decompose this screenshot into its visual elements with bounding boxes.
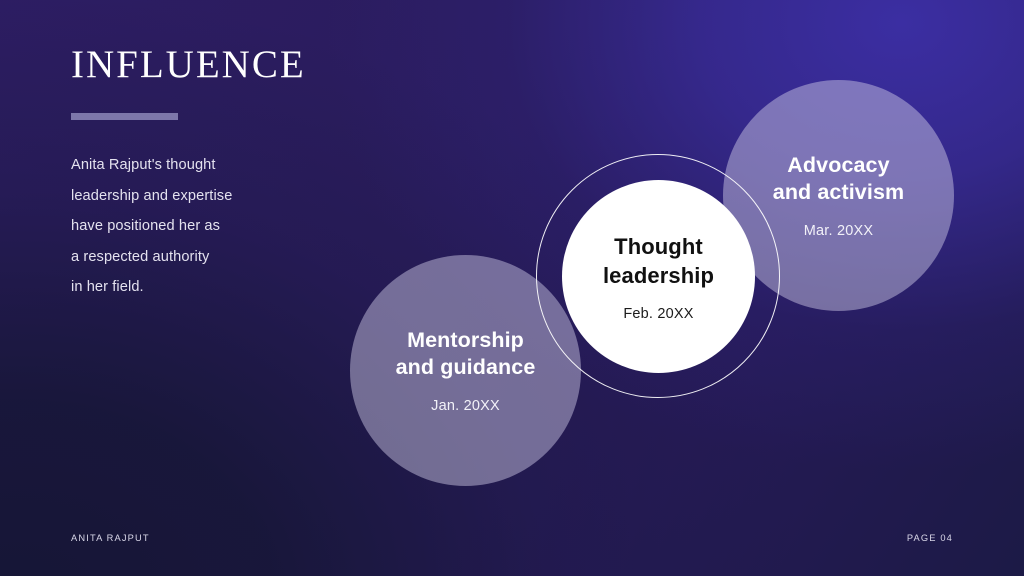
milestone-title: Mentorship and guidance [396, 327, 536, 381]
body-line: a respected authority [71, 242, 331, 273]
milestone-date: Jan. 20XX [431, 398, 500, 414]
slide-canvas: INFLUENCE Anita Rajput's thought leaders… [0, 0, 1024, 576]
milestone-title-line: and activism [773, 179, 904, 206]
milestone-title-line: leadership [603, 261, 714, 290]
body-line: have positioned her as [71, 211, 331, 242]
milestone-title-line: Advocacy [773, 152, 904, 179]
milestone-title: Advocacy and activism [773, 152, 904, 206]
title-accent-bar [71, 113, 178, 120]
left-text-column: INFLUENCE Anita Rajput's thought leaders… [71, 42, 331, 303]
body-line: leadership and expertise [71, 181, 331, 212]
milestone-title-line: and guidance [396, 354, 536, 381]
body-paragraph: Anita Rajput's thought leadership and ex… [71, 150, 331, 303]
body-line: Anita Rajput's thought [71, 150, 331, 181]
milestone-title: Thought leadership [603, 232, 714, 290]
footer-page-number: PAGE 04 [907, 533, 953, 543]
page-title: INFLUENCE [71, 42, 331, 88]
milestone-date: Feb. 20XX [623, 306, 693, 322]
milestone-title-line: Mentorship [396, 327, 536, 354]
milestone-title-line: Thought [603, 232, 714, 261]
milestone-circle-thought-leadership[interactable]: Thought leadership Feb. 20XX [562, 180, 755, 373]
body-line: in her field. [71, 272, 331, 303]
milestone-date: Mar. 20XX [804, 223, 874, 239]
footer-author: ANITA RAJPUT [71, 533, 150, 543]
